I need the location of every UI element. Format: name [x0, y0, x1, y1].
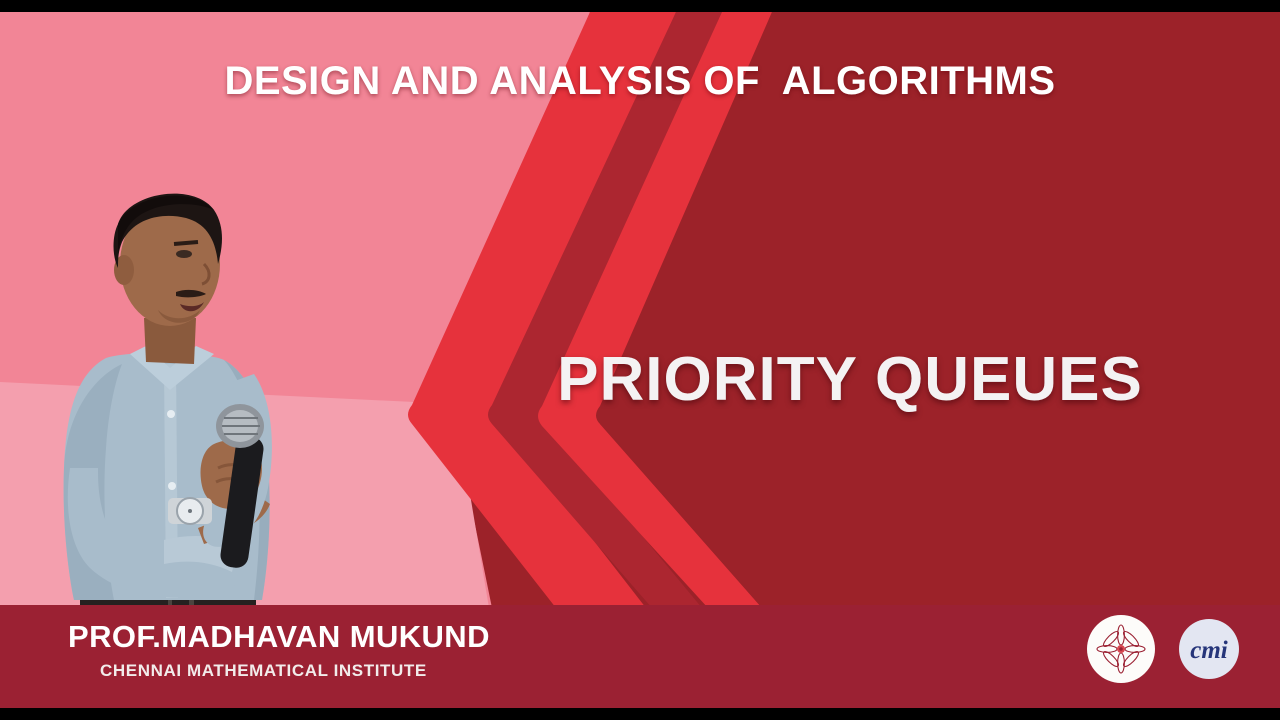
slide-artwork: DESIGN AND ANALYSIS OF ALGORITHMS PRIORI… [0, 12, 1280, 708]
presenter-affiliation: CHENNAI MATHEMATICAL INSTITUTE [100, 661, 427, 681]
letterbox-top [0, 0, 1280, 12]
lecture-title-slide: DESIGN AND ANALYSIS OF ALGORITHMS PRIORI… [0, 0, 1280, 720]
institute-emblem-icon [1086, 614, 1156, 684]
course-title: DESIGN AND ANALYSIS OF ALGORITHMS [0, 59, 1280, 104]
letterbox-bottom [0, 708, 1280, 720]
lecture-topic-title: PRIORITY QUEUES [470, 344, 1230, 415]
cmi-logo-icon: cmi [1178, 618, 1240, 680]
presenter-name: PROF.MADHAVAN MUKUND [68, 619, 490, 655]
cmi-logo-text: cmi [1190, 637, 1228, 664]
logo-group: cmi [1086, 614, 1240, 684]
presenter-name-band: PROF.MADHAVAN MUKUND CHENNAI MATHEMATICA… [0, 605, 1280, 708]
